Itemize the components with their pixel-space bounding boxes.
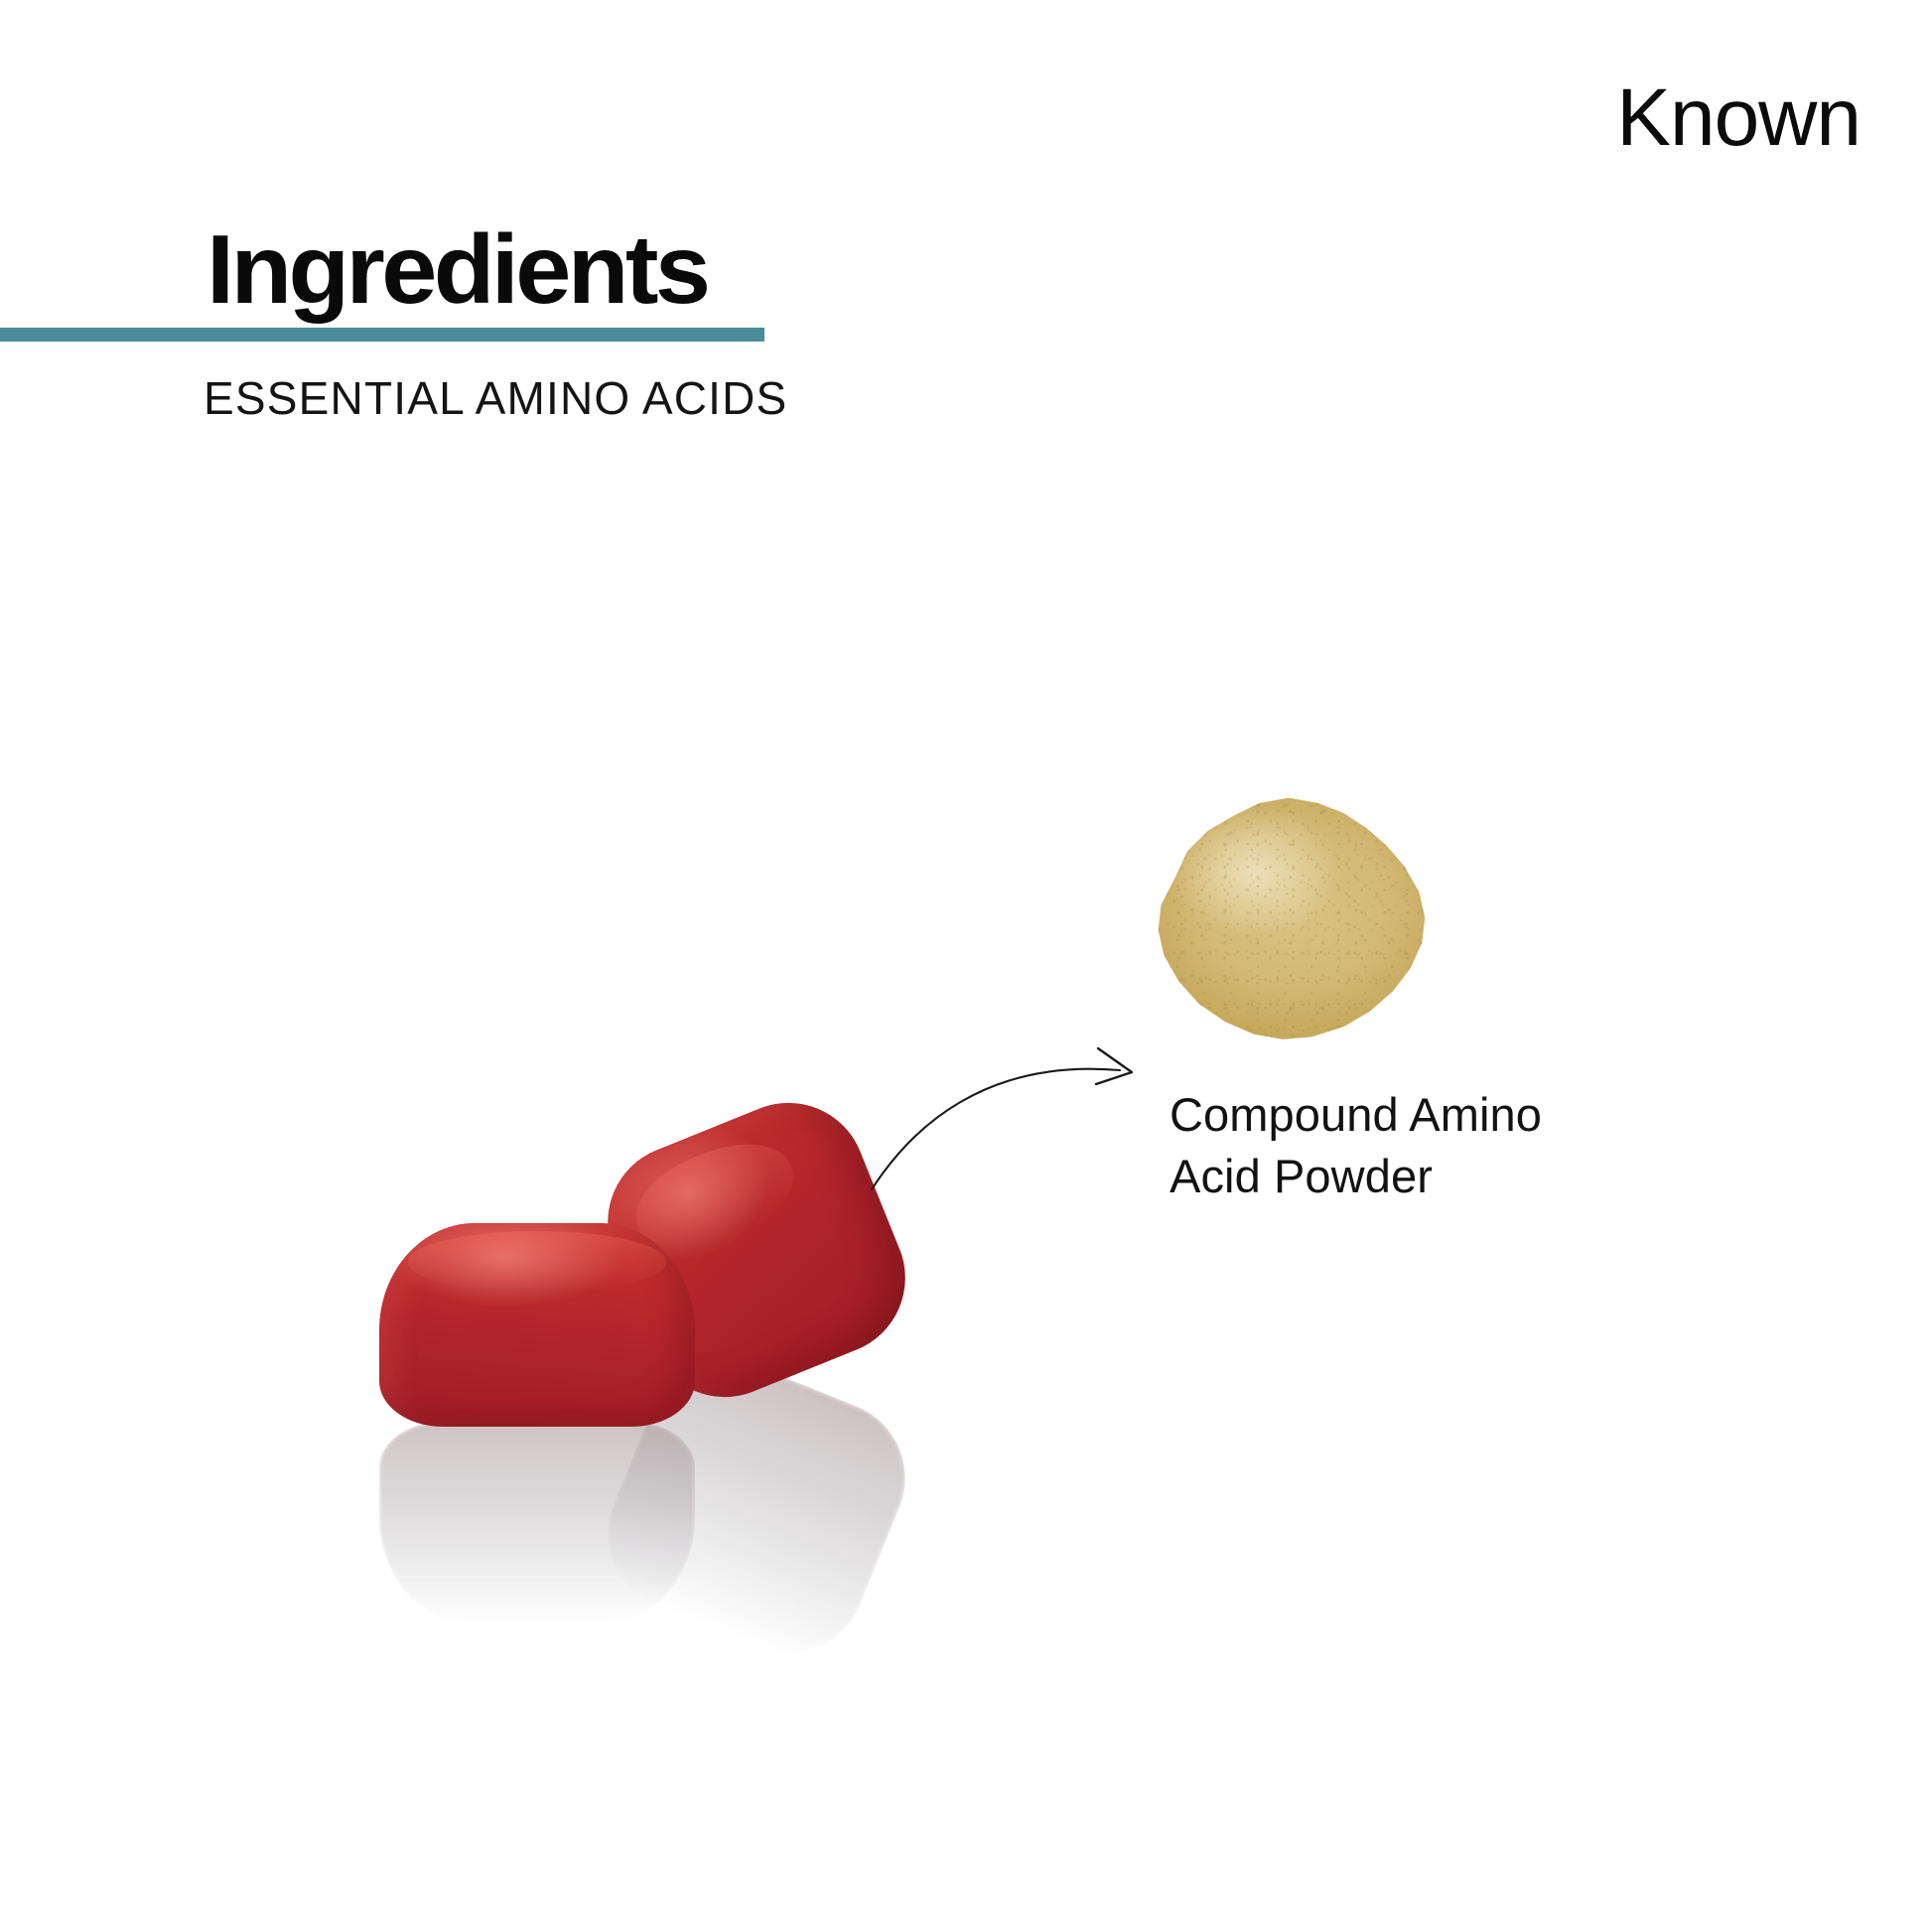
brand-logo: Known <box>1616 77 1861 159</box>
powder-grain-texture <box>1144 790 1434 1044</box>
ingredients-slide: Known Ingredients ESSENTIAL AMINO ACIDS … <box>0 0 1932 1931</box>
powder-pile <box>1144 790 1434 1044</box>
powder-pile-photo <box>1144 790 1434 1044</box>
page-title: Ingredients <box>207 220 707 318</box>
title-underline-rule <box>0 328 764 342</box>
page-subtitle: ESSENTIAL AMINO ACIDS <box>204 375 787 421</box>
callout-arrow-icon <box>854 943 1152 1211</box>
powder-caption: Compound Amino Acid Powder <box>1170 1084 1542 1207</box>
gummy-left <box>379 1223 695 1427</box>
